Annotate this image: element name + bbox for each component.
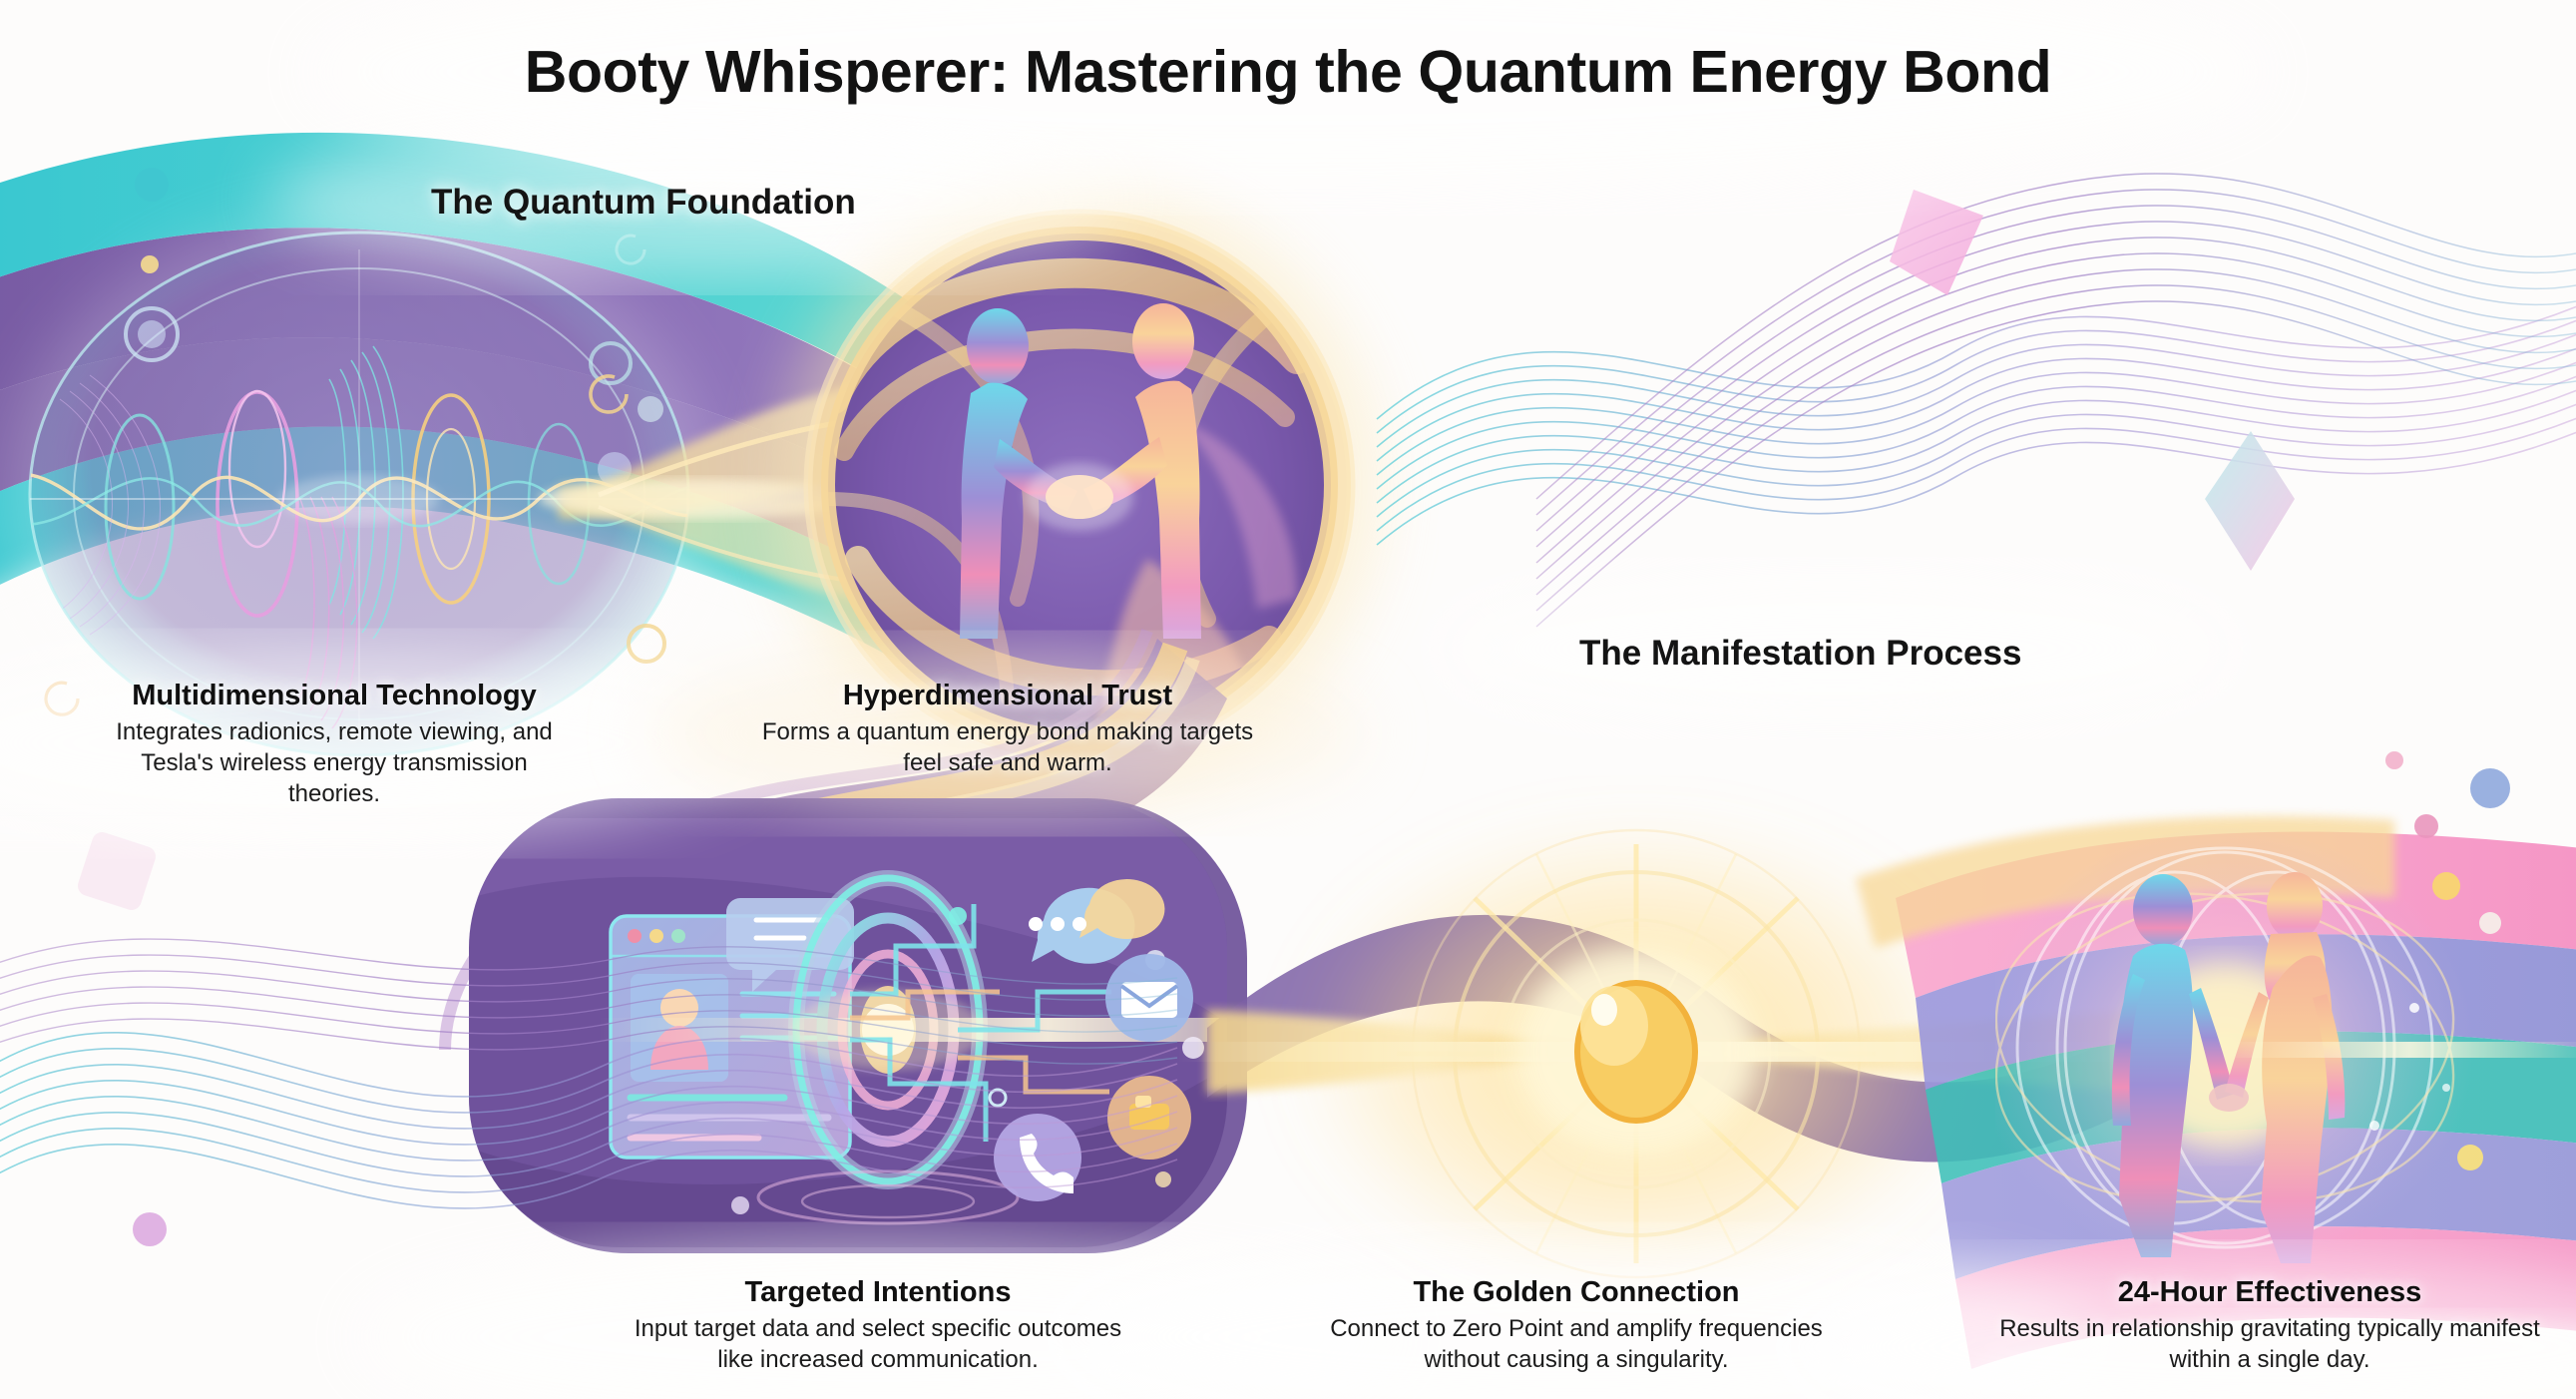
- node-title: Hyperdimensional Trust: [758, 679, 1257, 712]
- window-dot-green: [671, 929, 685, 943]
- node-description: Input target data and select specific ou…: [619, 1314, 1137, 1375]
- section-heading-foundation: The Quantum Foundation: [431, 183, 856, 223]
- node-description: Forms a quantum energy bond making targe…: [758, 717, 1257, 778]
- node-description: Results in relationship gravitating typi…: [1985, 1314, 2554, 1375]
- node-title: Targeted Intentions: [619, 1275, 1137, 1309]
- page-title: Booty Whisperer: Mastering the Quantum E…: [0, 38, 2576, 106]
- window-dot-red: [628, 929, 642, 943]
- node-description: Integrates radionics, remote viewing, an…: [100, 717, 569, 809]
- window-dot-yellow: [649, 929, 663, 943]
- node-hyperdimensional-trust: Hyperdimensional Trust Forms a quantum e…: [758, 679, 1257, 779]
- node-title: Multidimensional Technology: [100, 679, 569, 712]
- section-heading-manifestation: The Manifestation Process: [1579, 634, 2021, 674]
- node-title: The Golden Connection: [1297, 1275, 1856, 1309]
- node-multidimensional-technology: Multidimensional Technology Integrates r…: [100, 679, 569, 809]
- emoji-icon: [1107, 1076, 1191, 1160]
- node-24-hour-effectiveness: 24-Hour Effectiveness Results in relatio…: [1985, 1275, 2554, 1376]
- node-golden-connection: The Golden Connection Connect to Zero Po…: [1297, 1275, 1856, 1376]
- node-description: Connect to Zero Point and amplify freque…: [1297, 1314, 1856, 1375]
- node-targeted-intentions: Targeted Intentions Input target data an…: [619, 1275, 1137, 1376]
- node-title: 24-Hour Effectiveness: [1985, 1275, 2554, 1309]
